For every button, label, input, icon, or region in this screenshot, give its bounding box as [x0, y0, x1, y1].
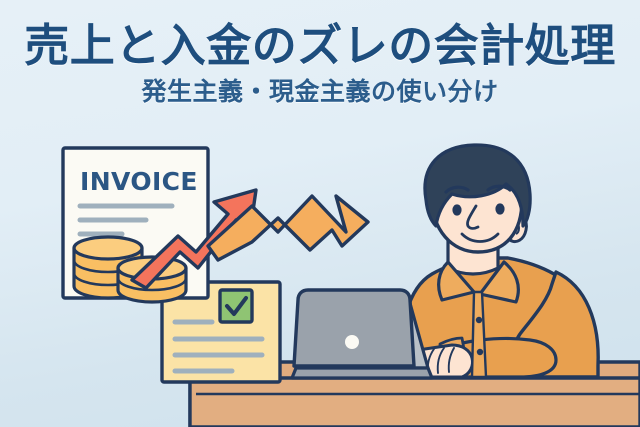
illustration-canvas: INVOICE — [0, 0, 640, 427]
laptop-keyboard-deck — [292, 368, 432, 378]
hero-illustration: INVOICE — [0, 0, 640, 427]
eye-right — [495, 203, 504, 214]
eye-left — [452, 204, 461, 215]
shirt-button-2 — [477, 349, 483, 355]
laptop — [292, 290, 432, 378]
invoice-heading: INVOICE — [80, 167, 198, 196]
shirt-button-1 — [476, 317, 482, 323]
checkbox — [220, 290, 252, 322]
person — [400, 145, 598, 377]
desk-front — [190, 378, 640, 427]
laptop-lid — [294, 290, 414, 366]
laptop-logo — [345, 335, 359, 349]
coin-stack-top — [74, 237, 142, 259]
